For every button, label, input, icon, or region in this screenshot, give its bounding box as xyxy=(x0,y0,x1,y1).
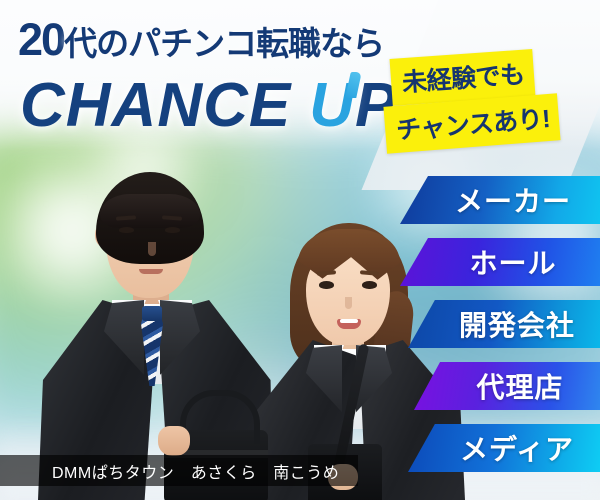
category-button-developer[interactable]: 開発会社 xyxy=(408,300,600,348)
logo-chance-text: CHANCE xyxy=(20,71,291,140)
man-in-suit-figure xyxy=(38,170,273,500)
headline-text: 20代のパチンコ転職なら xyxy=(18,14,384,66)
headline-middle: 代のパチンコ転職 xyxy=(64,25,320,62)
man-eye-left xyxy=(119,227,134,233)
headline-tail: なら xyxy=(320,25,384,62)
category-button-maker[interactable]: メーカー xyxy=(400,176,600,224)
category-button-media-label: メディア xyxy=(434,428,574,468)
category-button-hall-label: ホール xyxy=(443,242,556,282)
woman-nose xyxy=(345,297,352,309)
man-hand xyxy=(158,426,190,456)
headline-number: 20 xyxy=(18,14,64,65)
man-mouth xyxy=(139,269,163,274)
category-button-hall[interactable]: ホール xyxy=(400,238,600,286)
advertisement-banner[interactable]: 20代のパチンコ転職なら CHANCEUP 未経験でも チャンスあり! メーカー… xyxy=(0,0,600,500)
category-button-developer-label: 開発会社 xyxy=(433,304,575,344)
promo-badge-group: 未経験でも チャンスあり! xyxy=(385,54,600,162)
category-button-agency-label: 代理店 xyxy=(450,366,563,406)
man-eye-right xyxy=(165,227,180,233)
category-button-agency[interactable]: 代理店 xyxy=(414,362,600,410)
woman-mouth xyxy=(337,319,361,329)
logo-u-letter: U xyxy=(309,70,355,141)
category-button-media[interactable]: メディア xyxy=(408,424,600,472)
woman-eye-left xyxy=(319,281,334,289)
credit-text: DMMぱちタウン あさくら 南こうめ xyxy=(0,459,339,483)
brand-logo: CHANCEUP xyxy=(20,70,397,141)
man-nose xyxy=(148,242,156,256)
credit-bar: DMMぱちタウン あさくら 南こうめ xyxy=(0,455,358,486)
category-button-maker-label: メーカー xyxy=(429,180,571,220)
man-necktie-knot xyxy=(142,306,162,321)
woman-eye-right xyxy=(362,281,377,289)
category-button-list: メーカー ホール 開発会社 代理店 メディア xyxy=(390,176,600,486)
